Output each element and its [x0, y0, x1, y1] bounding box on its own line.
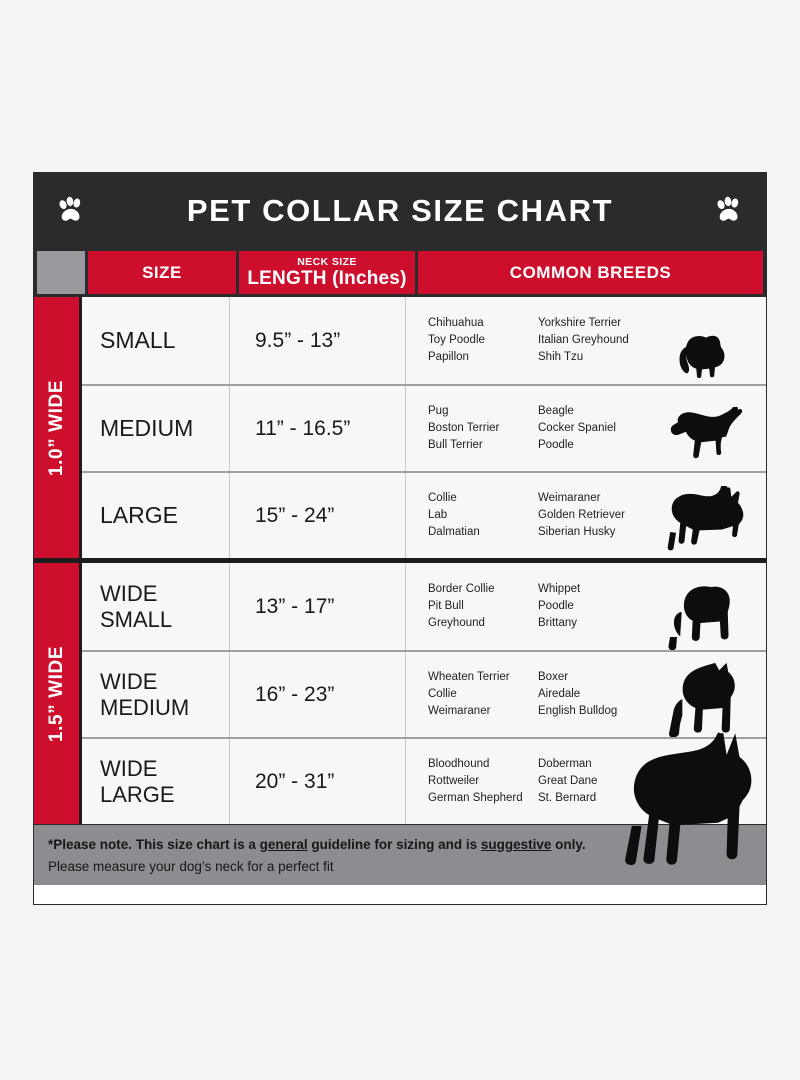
- breed-item: German Shepherd: [428, 790, 538, 807]
- cell-breeds: Wheaten Terrier Collie Weimaraner Boxer …: [406, 652, 766, 737]
- cell-size-line1: WIDE: [100, 669, 189, 694]
- breed-item: Airedale: [538, 686, 658, 703]
- table-row[interactable]: WIDE SMALL 13” - 17” Border Collie Pit B…: [82, 563, 766, 650]
- breed-item: Shih Tzu: [538, 349, 658, 366]
- breed-item: Wheaten Terrier: [428, 669, 538, 686]
- section-1-0-wide: 1.0” WIDE SMALL 9.5” - 13” Chihuahua Toy…: [34, 297, 766, 558]
- breed-item: Bloodhound: [428, 756, 538, 773]
- cell-size: MEDIUM: [82, 386, 230, 471]
- cell-size: SMALL: [82, 297, 230, 384]
- page-root: PET COLLAR SIZE CHART SIZE NECK SIZE LEN…: [0, 0, 800, 1080]
- breed-column-1: Wheaten Terrier Collie Weimaraner: [428, 669, 538, 720]
- section-label-1-0-wide: 1.0” WIDE: [34, 297, 82, 558]
- breed-column-1: Border Collie Pit Bull Greyhound: [428, 581, 538, 632]
- table-row[interactable]: WIDE MEDIUM 16” - 23” Wheaten Terrier Co…: [82, 650, 766, 737]
- breed-item: Dalmatian: [428, 524, 538, 541]
- breed-item: Golden Retriever: [538, 507, 658, 524]
- column-header-breeds: COMMON BREEDS: [418, 251, 763, 294]
- breed-column-2: Doberman Great Dane St. Bernard: [538, 756, 658, 807]
- cell-length: 15” - 24”: [230, 473, 406, 558]
- breed-item: Border Collie: [428, 581, 538, 598]
- breed-item: Italian Greyhound: [538, 332, 658, 349]
- column-header-necksize-label: NECK SIZE: [297, 257, 357, 268]
- size-chart-card: PET COLLAR SIZE CHART SIZE NECK SIZE LEN…: [33, 172, 767, 905]
- cell-size-line1: WIDE: [100, 756, 175, 781]
- table-row[interactable]: SMALL 9.5” - 13” Chihuahua Toy Poodle Pa…: [82, 297, 766, 384]
- breed-item: Lab: [428, 507, 538, 524]
- footnote-text-b: guideline for sizing and is: [308, 837, 481, 852]
- cell-length: 11” - 16.5”: [230, 386, 406, 471]
- breed-item: St. Bernard: [538, 790, 658, 807]
- breed-column-1: Chihuahua Toy Poodle Papillon: [428, 315, 538, 366]
- breed-item: Beagle: [538, 403, 658, 420]
- breed-item: Siberian Husky: [538, 524, 658, 541]
- cell-breeds: Chihuahua Toy Poodle Papillon Yorkshire …: [406, 297, 766, 384]
- cell-size-line1: WIDE: [100, 581, 172, 606]
- breed-item: Chihuahua: [428, 315, 538, 332]
- footnote-line-2: Please measure your dog’s neck for a per…: [48, 856, 752, 878]
- column-header-length-label: LENGTH (Inches): [247, 269, 406, 288]
- table-row[interactable]: WIDE LARGE 20” - 31” Bloodhound Rottweil…: [82, 737, 766, 824]
- column-header-length: NECK SIZE LENGTH (Inches): [239, 251, 415, 294]
- breed-item: Cocker Spaniel: [538, 420, 658, 437]
- breed-item: Great Dane: [538, 773, 658, 790]
- section-rows: SMALL 9.5” - 13” Chihuahua Toy Poodle Pa…: [82, 297, 766, 558]
- breed-item: Bull Terrier: [428, 437, 538, 454]
- column-header-size: SIZE: [88, 251, 236, 294]
- breed-item: Brittany: [538, 615, 658, 632]
- breed-item: Greyhound: [428, 615, 538, 632]
- footnote-text-c: only.: [551, 837, 585, 852]
- cell-length: 20” - 31”: [230, 739, 406, 824]
- cell-breeds: Bloodhound Rottweiler German Shepherd Do…: [406, 739, 766, 824]
- breed-column-1: Collie Lab Dalmatian: [428, 490, 538, 541]
- table-row[interactable]: LARGE 15” - 24” Collie Lab Dalmatian Wei…: [82, 471, 766, 558]
- cell-size-line2: SMALL: [100, 607, 172, 632]
- breed-item: Yorkshire Terrier: [538, 315, 658, 332]
- table-body: 1.0” WIDE SMALL 9.5” - 13” Chihuahua Toy…: [34, 297, 766, 824]
- breed-item: Collie: [428, 490, 538, 507]
- breed-column-1: Bloodhound Rottweiler German Shepherd: [428, 756, 538, 807]
- breed-column-2: Boxer Airedale English Bulldog: [538, 669, 658, 720]
- section-rows: WIDE SMALL 13” - 17” Border Collie Pit B…: [82, 563, 766, 824]
- breed-item: Weimaraner: [428, 703, 538, 720]
- breed-item: Poodle: [538, 598, 658, 615]
- shepherd-silhouette: [642, 473, 762, 558]
- cell-breeds: Pug Boston Terrier Bull Terrier Beagle C…: [406, 386, 766, 471]
- cell-size: WIDE MEDIUM: [82, 652, 230, 737]
- table-header-row: SIZE NECK SIZE LENGTH (Inches) COMMON BR…: [34, 248, 766, 297]
- cell-size-line2: LARGE: [100, 782, 175, 807]
- section-label-text: 1.5” WIDE: [46, 645, 68, 741]
- breed-item: Boston Terrier: [428, 420, 538, 437]
- paw-print-icon: [54, 194, 88, 228]
- paw-print-icon: [712, 194, 746, 228]
- breed-item: Papillon: [428, 349, 538, 366]
- table-row[interactable]: MEDIUM 11” - 16.5” Pug Boston Terrier Bu…: [82, 384, 766, 471]
- breed-item: Whippet: [538, 581, 658, 598]
- breed-item: Doberman: [538, 756, 658, 773]
- chart-title-bar: PET COLLAR SIZE CHART: [34, 173, 766, 248]
- breed-item: Collie: [428, 686, 538, 703]
- breed-item: Rottweiler: [428, 773, 538, 790]
- cell-size: WIDE LARGE: [82, 739, 230, 824]
- footnote-underline-general: general: [260, 837, 308, 852]
- section-label-1-5-wide: 1.5” WIDE: [34, 563, 82, 824]
- breed-item: Boxer: [538, 669, 658, 686]
- footnote-underline-suggestive: suggestive: [481, 837, 552, 852]
- breed-column-2: Weimaraner Golden Retriever Siberian Hus…: [538, 490, 658, 541]
- footnote-text-a: *Please note. This size chart is a: [48, 837, 260, 852]
- cell-length: 16” - 23”: [230, 652, 406, 737]
- cell-length: 13” - 17”: [230, 563, 406, 650]
- cell-size: LARGE: [82, 473, 230, 558]
- breed-item: Toy Poodle: [428, 332, 538, 349]
- breed-item: Poodle: [538, 437, 658, 454]
- breed-item: English Bulldog: [538, 703, 658, 720]
- breed-item: Pug: [428, 403, 538, 420]
- section-label-text: 1.0” WIDE: [46, 379, 68, 475]
- page-title: PET COLLAR SIZE CHART: [187, 193, 613, 229]
- pitbull-silhouette: [642, 652, 762, 737]
- section-1-5-wide: 1.5” WIDE WIDE SMALL 13” - 17”: [34, 558, 766, 824]
- footnote-line-1: *Please note. This size chart is a gener…: [48, 834, 752, 856]
- cell-length: 9.5” - 13”: [230, 297, 406, 384]
- cell-breeds: Collie Lab Dalmatian Weimaraner Golden R…: [406, 473, 766, 558]
- breed-column-2: Beagle Cocker Spaniel Poodle: [538, 403, 658, 454]
- breed-column-2: Whippet Poodle Brittany: [538, 581, 658, 632]
- cell-size-line2: MEDIUM: [100, 695, 189, 720]
- breed-item: Pit Bull: [428, 598, 538, 615]
- breed-column-2: Yorkshire Terrier Italian Greyhound Shih…: [538, 315, 658, 366]
- beagle-silhouette: [642, 386, 762, 471]
- header-corner-cell: [37, 251, 85, 294]
- bulldog-silhouette: [642, 563, 762, 650]
- cell-breeds: Border Collie Pit Bull Greyhound Whippet…: [406, 563, 766, 650]
- breed-column-1: Pug Boston Terrier Bull Terrier: [428, 403, 538, 454]
- cell-size: WIDE SMALL: [82, 563, 230, 650]
- footnote: *Please note. This size chart is a gener…: [34, 824, 766, 885]
- breed-item: Weimaraner: [538, 490, 658, 507]
- pomeranian-silhouette: [642, 297, 762, 384]
